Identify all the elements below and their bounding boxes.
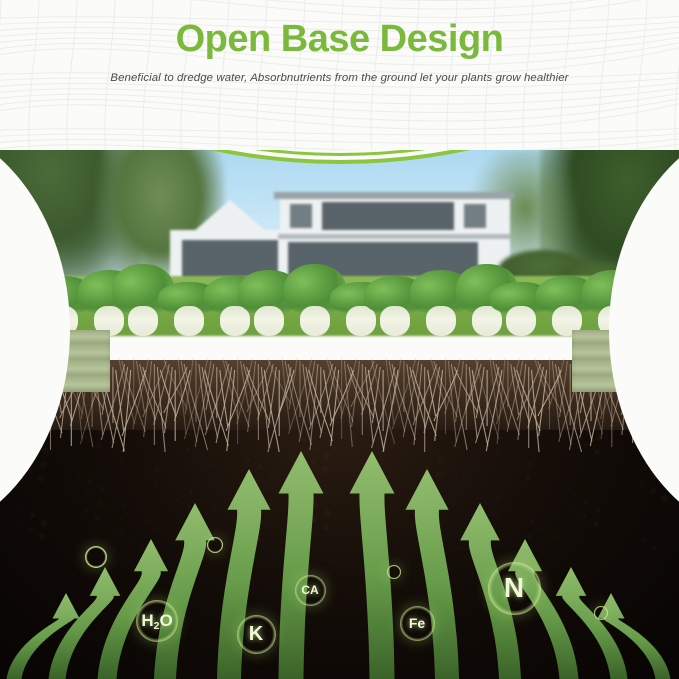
nutrient-bubble-ca: CA: [295, 575, 326, 606]
nutrient-flow-arrows: [0, 400, 679, 679]
nutrient-label: K: [249, 623, 263, 646]
nutrient-label: CA: [301, 583, 318, 597]
nutrient-bubble-n: N: [488, 562, 541, 615]
nutrient-bubble-empty: [85, 546, 107, 568]
nutrient-bubble-k: K: [237, 615, 276, 654]
nutrient-bubble-empty: [594, 606, 608, 620]
nutrient-label: Fe: [409, 615, 425, 631]
nutrient-label: H2O: [141, 611, 172, 632]
page-title: Open Base Design: [0, 20, 679, 58]
header: Open Base Design Beneficial to dredge wa…: [0, 0, 679, 150]
nutrient-bubble-empty: [387, 565, 401, 579]
page-subtitle: Beneficial to dredge water, Absorbnutrie…: [0, 72, 679, 84]
nutrient-bubble-fe: Fe: [400, 606, 435, 641]
product-feature-image: H2O K CA Fe N Open Base Design Beneficia…: [0, 0, 679, 679]
nutrient-bubble-empty: [207, 537, 223, 553]
nutrient-label: N: [504, 572, 524, 604]
nutrient-bubble-h2o: H2O: [136, 600, 178, 642]
